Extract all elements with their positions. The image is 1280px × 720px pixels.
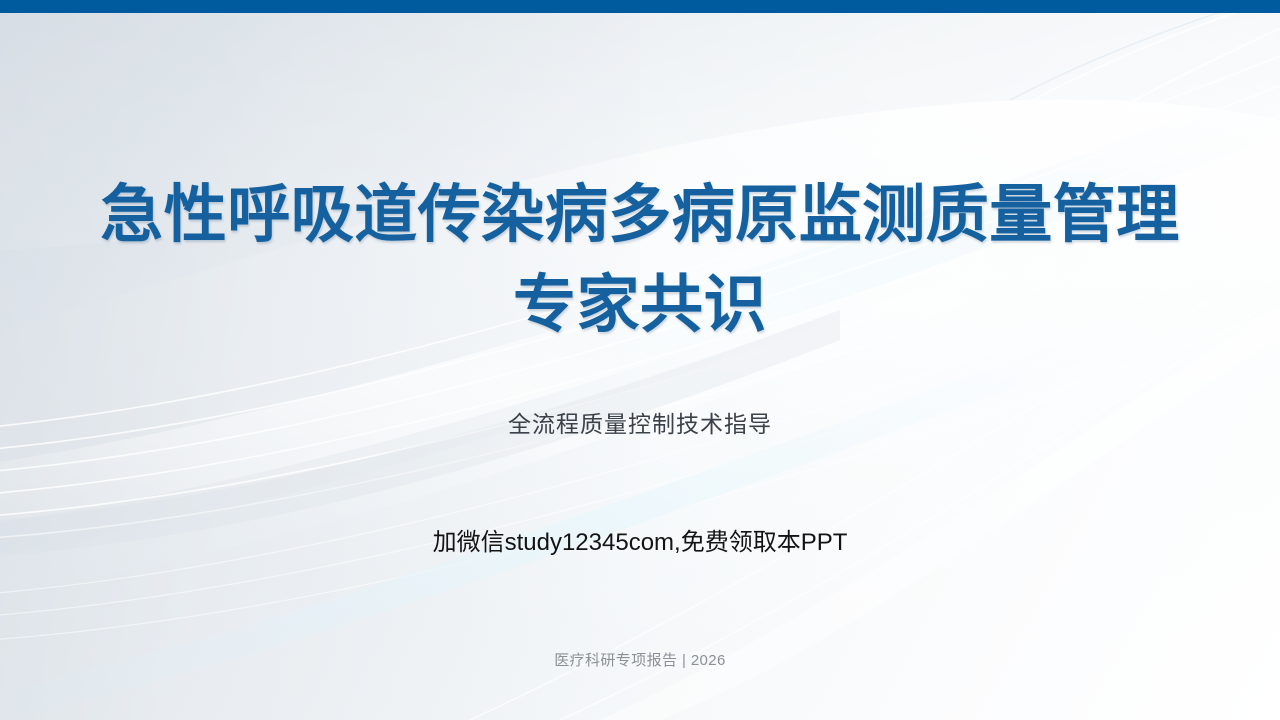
title-slide: 急性呼吸道传染病多病原监测质量管理 专家共识 全流程质量控制技术指导 加微信st… — [0, 0, 1280, 720]
title-divider — [504, 356, 776, 358]
page-title: 急性呼吸道传染病多病原监测质量管理 专家共识 — [0, 170, 1280, 350]
page-title-line-2: 专家共识 — [0, 260, 1280, 350]
footer-caption: 医疗科研专项报告 | 2026 — [0, 650, 1280, 672]
page-title-line-1: 急性呼吸道传染病多病原监测质量管理 — [100, 180, 1180, 250]
promo-text: 加微信study12345com,免费领取本PPT — [0, 527, 1280, 559]
slide-content: 急性呼吸道传染病多病原监测质量管理 专家共识 全流程质量控制技术指导 加微信st… — [0, 0, 1280, 720]
subtitle: 全流程质量控制技术指导 — [0, 408, 1280, 440]
